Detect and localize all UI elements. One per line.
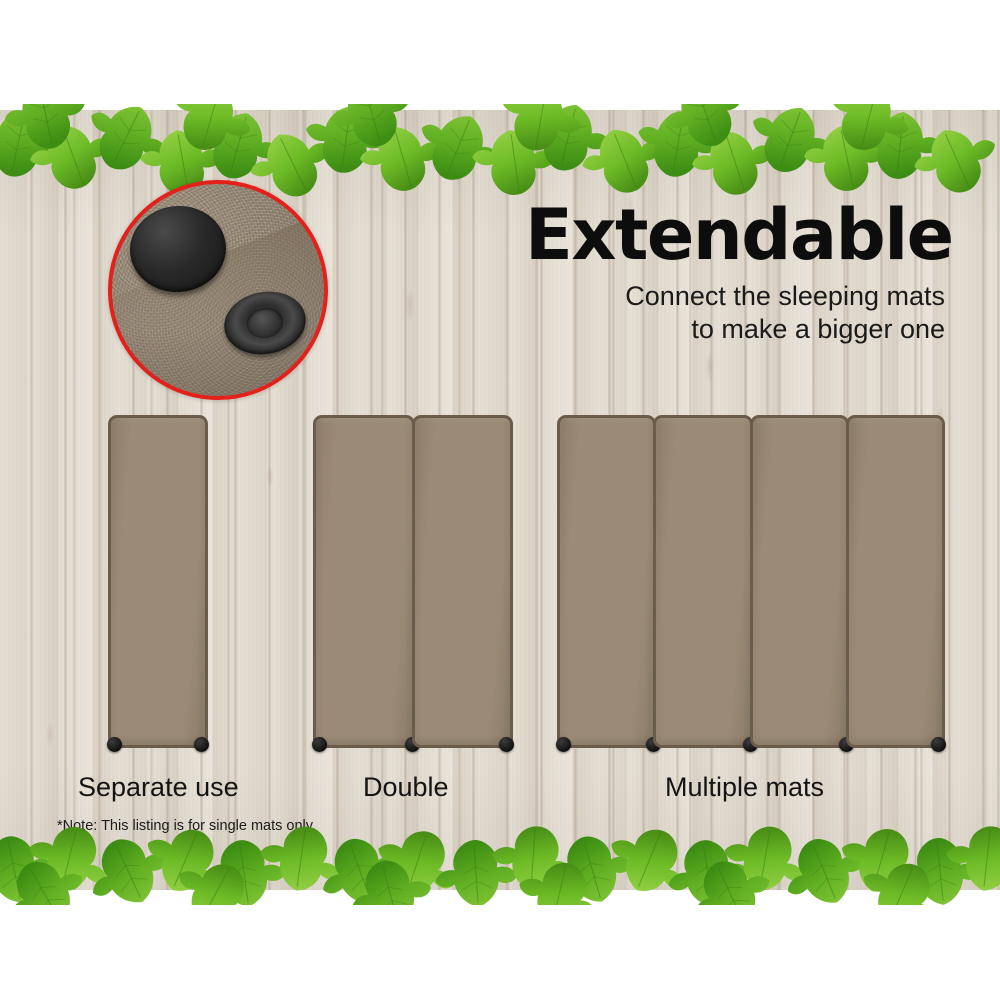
caption-separate-use: Separate use (78, 772, 239, 803)
snap-dot (931, 737, 946, 752)
mat-group-separate-use (108, 415, 208, 748)
sleeping-mat (653, 415, 752, 748)
sleeping-mat (846, 415, 945, 748)
sleeping-mat (750, 415, 849, 748)
subtitle-block: Connect the sleeping mats to make a bigg… (525, 280, 945, 346)
mat-group-multiple-mats (557, 415, 945, 748)
sleeping-mat (412, 415, 514, 748)
mat-group-double (313, 415, 513, 748)
caption-double: Double (363, 772, 449, 803)
subtitle-line-1: Connect the sleeping mats (525, 280, 945, 313)
sleeping-mat (557, 415, 656, 748)
snap-connector-closeup (108, 180, 328, 400)
infographic-canvas: Extendable Connect the sleeping mats to … (0, 0, 1000, 1000)
snap-dot (194, 737, 209, 752)
caption-multiple-mats: Multiple mats (665, 772, 824, 803)
snap-dot (499, 737, 514, 752)
headline-block: Extendable Connect the sleeping mats to … (525, 200, 945, 346)
footnote-note: *Note: This listing is for single mats o… (57, 818, 316, 834)
subtitle-line-2: to make a bigger one (525, 313, 945, 346)
snap-dot (312, 737, 327, 752)
sleeping-mat (108, 415, 208, 748)
snap-dot (107, 737, 122, 752)
snap-dot (556, 737, 571, 752)
sleeping-mat (313, 415, 415, 748)
page-title: Extendable (525, 200, 945, 270)
